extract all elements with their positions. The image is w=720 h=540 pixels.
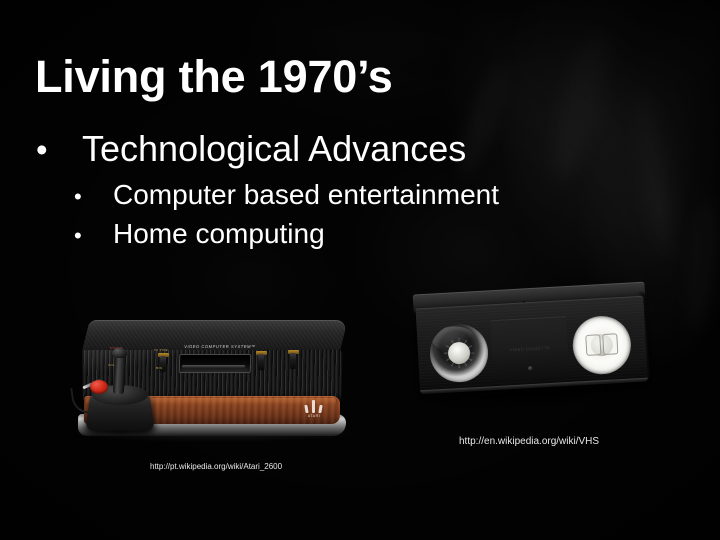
joystick-knob — [112, 348, 127, 358]
bullet-marker-icon: • — [36, 133, 82, 166]
console-model-label: VIDEO COMPUTER SYSTEM™ — [180, 344, 261, 349]
joystick-fire-button — [90, 380, 108, 394]
bullet-level2-label: Computer based entertainment — [113, 181, 499, 209]
bullet-marker-icon: • — [74, 225, 113, 247]
atari-2600-console-image: VIDEO COMPUTER SYSTEM™ POWER TV TYPE COL… — [72, 318, 352, 453]
vhs-cassette-image: VIDEO CASSETTE — [413, 282, 652, 419]
cartridge-slot — [179, 354, 252, 373]
slide-title: Living the 1970’s — [35, 53, 393, 100]
atari-fuji-logo-icon: ATARI — [302, 400, 326, 417]
presentation-slide: Living the 1970’s • Technological Advanc… — [0, 0, 720, 540]
atari-image-caption: http://pt.wikipedia.org/wiki/Atari_2600 — [150, 462, 282, 471]
difficulty-switch-right — [290, 353, 296, 368]
bullet-level2-label: Home computing — [113, 220, 325, 248]
bullet-level2-home-computing: • Home computing — [74, 220, 325, 248]
bullet-level2-computer-based-entertainment: • Computer based entertainment — [74, 181, 499, 209]
atari-joystick — [78, 348, 166, 434]
bullet-marker-icon: • — [74, 186, 113, 208]
bullet-level1-label: Technological Advances — [82, 131, 466, 167]
bullet-level1-technological-advances: • Technological Advances — [36, 131, 466, 167]
atari-brand-label: ATARI — [302, 414, 326, 418]
difficulty-switch-left — [258, 354, 264, 369]
vhs-image-caption: http://en.wikipedia.org/wiki/VHS — [459, 436, 599, 447]
cartridge-slot-lip — [182, 365, 245, 368]
